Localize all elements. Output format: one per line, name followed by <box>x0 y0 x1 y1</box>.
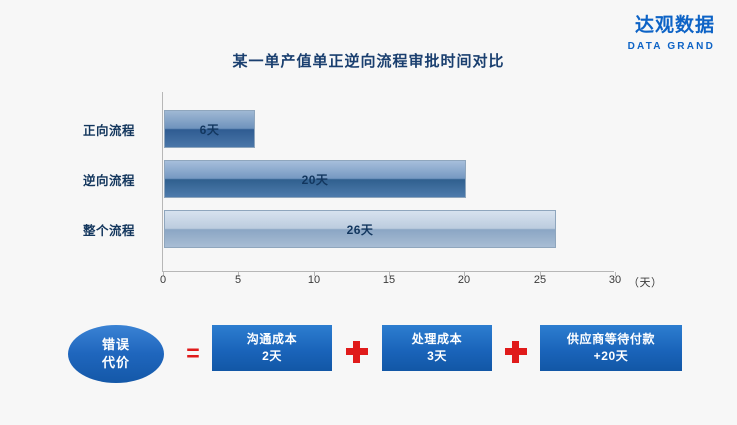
error-cost-line1: 错误 <box>102 336 130 354</box>
xtick-label-15: 15 <box>369 274 409 286</box>
formula-term-supplier-wait: 供应商等待付款 +20天 <box>540 325 682 371</box>
chart-title: 某一单产值单正逆向流程审批时间对比 <box>0 50 737 71</box>
brand-logo: 达观数据 DATA GRAND <box>628 16 715 52</box>
plus-icon-2 <box>504 340 528 364</box>
category-label-3: 整个流程 <box>63 220 155 239</box>
bar-reverse-process: 20天 <box>164 160 466 198</box>
bar-chart: 正向流程 逆向流程 整个流程 6天 20天 26天 0 5 10 <box>62 92 692 297</box>
plus-icon-1-vertical <box>353 341 360 363</box>
term-2-line1: 处理成本 <box>412 331 462 348</box>
term-1-line2: 2天 <box>262 348 282 365</box>
term-1-line1: 沟通成本 <box>247 331 297 348</box>
xtick-label-25: 25 <box>520 274 560 286</box>
term-2-line2: 3天 <box>427 348 447 365</box>
xtick-label-10: 10 <box>294 274 334 286</box>
error-cost-line2: 代价 <box>102 354 130 372</box>
error-cost-badge: 错误 代价 <box>68 325 164 383</box>
bar-value-3: 26天 <box>347 221 374 238</box>
cost-formula: 错误 代价 = 沟通成本 2天 处理成本 3天 供应商等待付款 +20天 <box>60 325 680 387</box>
category-label-1: 正向流程 <box>63 120 155 139</box>
bar-value-1: 6天 <box>200 121 220 138</box>
bar-value-2: 20天 <box>302 171 329 188</box>
brand-name-cn: 达观数据 <box>628 16 715 35</box>
plus-icon-2-vertical <box>512 341 519 363</box>
plus-icon-1 <box>345 340 369 364</box>
category-label-2: 逆向流程 <box>63 170 155 189</box>
term-3-line2: +20天 <box>594 348 629 365</box>
x-axis-unit-label: （天） <box>628 274 663 290</box>
term-3-line1: 供应商等待付款 <box>567 331 655 348</box>
formula-term-communication: 沟通成本 2天 <box>212 325 332 371</box>
xtick-label-20: 20 <box>444 274 484 286</box>
formula-term-processing: 处理成本 3天 <box>382 325 492 371</box>
equals-sign: = <box>180 342 206 365</box>
xtick-label-5: 5 <box>218 274 258 286</box>
bar-whole-process: 26天 <box>164 210 556 248</box>
plot-area: 正向流程 逆向流程 整个流程 6天 20天 26天 0 5 10 <box>162 92 614 272</box>
xtick-label-0: 0 <box>143 274 183 286</box>
bar-forward-process: 6天 <box>164 110 255 148</box>
slide: 达观数据 DATA GRAND 某一单产值单正逆向流程审批时间对比 正向流程 逆… <box>0 0 737 425</box>
